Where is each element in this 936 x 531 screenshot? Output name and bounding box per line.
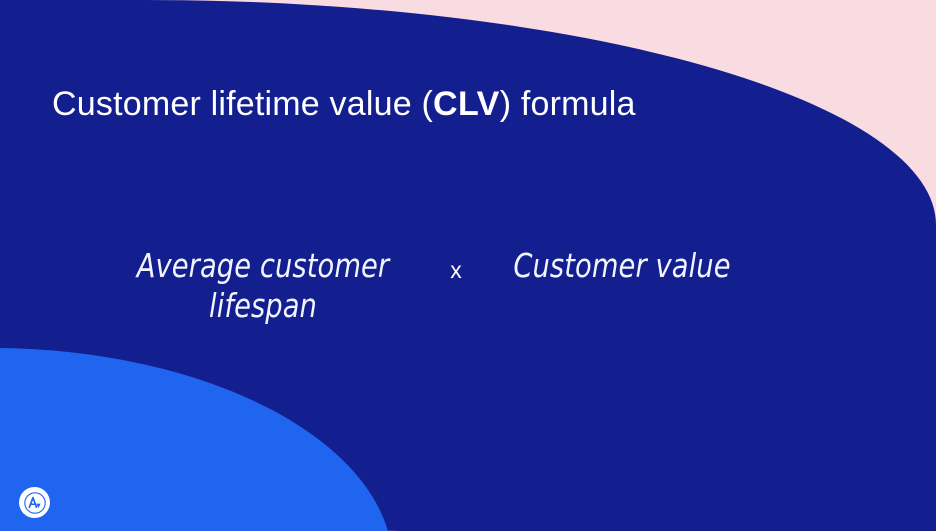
clv-formula: Average customer lifespan x Customer val… bbox=[120, 246, 800, 326]
slide-canvas: Customer lifetime value (CLV) formula Av… bbox=[0, 0, 936, 531]
formula-left-term: Average customer lifespan bbox=[131, 246, 394, 326]
title-emphasis-clv: CLV bbox=[433, 85, 500, 123]
formula-left-term-line2: lifespan bbox=[131, 286, 394, 326]
page-title: Customer lifetime value (CLV) formula bbox=[52, 85, 636, 124]
brand-logo[interactable] bbox=[19, 487, 50, 518]
title-prefix: Customer lifetime value ( bbox=[52, 85, 433, 123]
title-suffix: ) formula bbox=[500, 85, 636, 123]
monogram-a-icon bbox=[24, 492, 46, 514]
formula-multiply-operator: x bbox=[406, 246, 506, 290]
formula-right-term: Customer value bbox=[506, 246, 771, 286]
formula-left-term-line1: Average customer bbox=[131, 246, 394, 286]
